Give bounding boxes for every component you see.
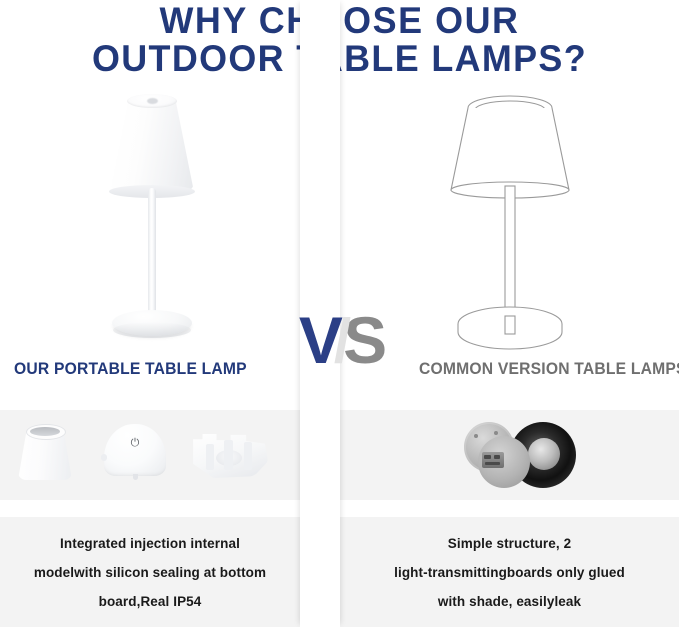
- disc-hole: [474, 434, 478, 438]
- internal-mold-rib: [206, 444, 214, 470]
- lamp-body-nub: [133, 474, 138, 480]
- component-lamp-shade-cup: [18, 422, 72, 480]
- right-caption-line-3: with shade, easilyleak: [340, 587, 679, 616]
- left-caption-band: Integrated injection internal modelwith …: [0, 517, 300, 627]
- versus-badge: V/S: [288, 305, 396, 377]
- left-product-stage: [0, 76, 300, 352]
- left-caption: Integrated injection internal modelwith …: [0, 529, 300, 616]
- lamp-outline-drawing: [435, 86, 585, 352]
- right-caption-line-1: Simple structure, 2: [340, 529, 679, 558]
- right-column-label: COMMON VERSION TABLE LAMPS: [419, 360, 679, 379]
- lamp-shade: [110, 100, 194, 192]
- common-lamp-components-photo: [458, 418, 578, 492]
- versus-slash: /: [334, 307, 349, 377]
- dark-ring-inner-lens: [528, 438, 560, 470]
- touch-control-icon: [147, 98, 158, 104]
- left-caption-line-2: modelwith silicon sealing at bottom: [0, 558, 300, 587]
- pcb-chip: [484, 455, 491, 459]
- power-icon: ⏻: [130, 438, 140, 448]
- lamp-base-edge: [113, 322, 191, 338]
- lamp-body-shell: [104, 424, 166, 476]
- common-table-lamp-outline-image: [435, 86, 585, 352]
- lamp-stem: [148, 188, 156, 320]
- left-components-band: ⏻: [0, 410, 300, 500]
- component-lamp-body: ⏻: [104, 424, 166, 482]
- pcb-chip: [494, 455, 500, 459]
- lamp-body-tab: [101, 454, 107, 461]
- right-caption-band: Simple structure, 2 light-transmittingbo…: [340, 517, 679, 627]
- disc-hole: [494, 431, 498, 435]
- left-caption-line-1: Integrated injection internal: [0, 529, 300, 558]
- internal-mold-rib: [244, 442, 252, 470]
- pcb-trace: [485, 462, 500, 465]
- right-caption: Simple structure, 2 light-transmittingbo…: [340, 529, 679, 616]
- comparison-infographic: WHY CHOOSE OUR OUTDOOR TABLE LAMPS?: [0, 0, 679, 627]
- portable-table-lamp-image: [92, 84, 212, 352]
- right-caption-line-2: light-transmittingboards only glued: [340, 558, 679, 587]
- left-column-label: OUR PORTABLE TABLE LAMP: [14, 360, 247, 379]
- left-caption-line-3: board,Real IP54: [0, 587, 300, 616]
- component-internal-mold: [190, 424, 268, 482]
- versus-s: S: [343, 303, 385, 377]
- internal-mold-rib: [224, 440, 233, 470]
- shade-cup-inner: [30, 427, 60, 436]
- circuit-board: [482, 452, 504, 468]
- right-components-band: [340, 410, 679, 500]
